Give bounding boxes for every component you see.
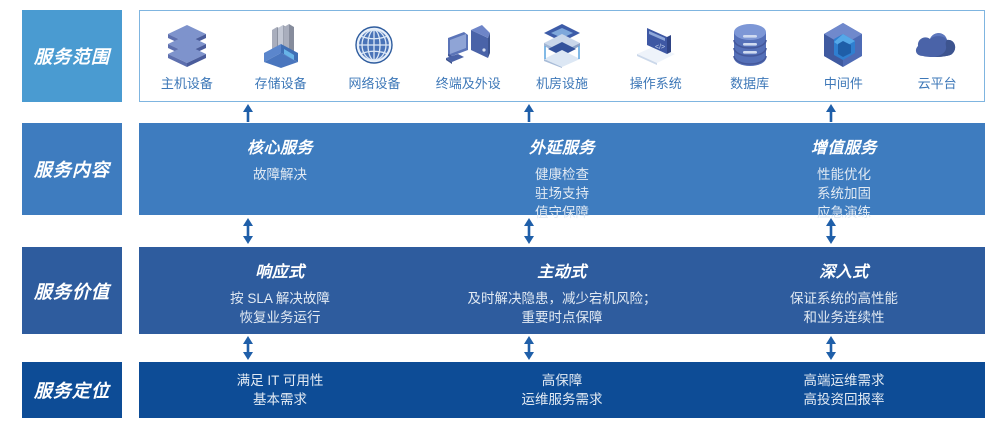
row-service-content: 服务内容 核心服务 故障解决 外延服务 健康检查 驻场支持 值守保障 增值服务 … — [0, 123, 1000, 215]
row-label-service-content: 服务内容 — [22, 123, 122, 215]
service-value-panel: 响应式 按 SLA 解决故障 恢复业务运行 主动式 及时解决隐患，减少宕机风险；… — [139, 247, 985, 334]
scope-item-label: 操作系统 — [630, 73, 682, 92]
row-label-service-scope: 服务范围 — [22, 10, 122, 102]
column-title: 深入式 — [819, 258, 869, 282]
storage-array-icon — [260, 22, 302, 68]
value-column-indepth[interactable]: 深入式 保证系统的高性能 和业务连续性 — [703, 247, 985, 334]
scope-item-label: 终端及外设 — [436, 73, 501, 92]
database-icon — [731, 22, 769, 68]
scope-item-label: 主机设备 — [161, 73, 213, 92]
scope-item-label: 存储设备 — [255, 73, 307, 92]
scope-item-label: 网络设备 — [348, 73, 400, 92]
laptop-os-icon: </> — [633, 22, 679, 68]
column-line: 重要时点保障 — [522, 308, 603, 327]
content-column-extended[interactable]: 外延服务 健康检查 驻场支持 值守保障 — [421, 123, 703, 215]
arrow-row1-row2-left — [241, 104, 255, 122]
server-stack-icon — [166, 22, 208, 68]
scope-item-middleware[interactable]: 中间件 — [796, 11, 890, 101]
column-title: 主动式 — [537, 258, 587, 282]
service-framework-diagram: 服务范围 — [0, 0, 1000, 424]
column-line: 按 SLA 解决故障 — [230, 289, 330, 308]
column-line: 保证系统的高性能 — [790, 289, 898, 308]
row-label-text: 服务价值 — [34, 278, 110, 304]
column-line: 性能优化 — [817, 165, 871, 184]
service-content-panel: 核心服务 故障解决 外延服务 健康检查 驻场支持 值守保障 增值服务 性能优化 … — [139, 123, 985, 215]
column-line: 恢复业务运行 — [240, 308, 321, 327]
arrow-row2-row3-center — [522, 218, 536, 244]
positioning-column-premium[interactable]: 高端运维需求 高投资回报率 — [703, 362, 985, 418]
column-line: 健康检查 — [535, 165, 589, 184]
column-line: 运维服务需求 — [522, 390, 603, 409]
scope-item-label: 云平台 — [918, 73, 957, 92]
scope-item-label: 数据库 — [730, 73, 769, 92]
cube-middleware-icon — [821, 22, 865, 68]
column-line: 值守保障 — [535, 203, 589, 222]
column-title: 核心服务 — [247, 134, 313, 158]
scope-items-panel: 主机设备 — [139, 10, 985, 102]
positioning-column-assurance[interactable]: 高保障 运维服务需求 — [421, 362, 703, 418]
arrow-row2-row3-left — [241, 218, 255, 244]
column-title: 响应式 — [255, 258, 305, 282]
row-service-scope: 服务范围 — [0, 10, 1000, 102]
value-column-reactive[interactable]: 响应式 按 SLA 解决故障 恢复业务运行 — [139, 247, 421, 334]
cloud-icon — [913, 22, 961, 68]
row-label-service-value: 服务价值 — [22, 247, 122, 334]
scope-item-datacenter[interactable]: 机房设施 — [515, 11, 609, 101]
content-column-core[interactable]: 核心服务 故障解决 — [139, 123, 421, 215]
globe-network-icon — [354, 22, 394, 68]
value-column-proactive[interactable]: 主动式 及时解决隐患，减少宕机风险； 重要时点保障 — [421, 247, 703, 334]
content-column-valueadd[interactable]: 增值服务 性能优化 系统加固 应急演练 — [703, 123, 985, 215]
scope-item-os[interactable]: </> 操作系统 — [609, 11, 703, 101]
row-label-text: 服务定位 — [34, 377, 110, 403]
column-line: 高投资回报率 — [804, 390, 885, 409]
scope-item-cloud[interactable]: 云平台 — [890, 11, 984, 101]
arrow-row2-row3-right — [824, 218, 838, 244]
row-service-value: 服务价值 响应式 按 SLA 解决故障 恢复业务运行 主动式 及时解决隐患，减少… — [0, 247, 1000, 334]
column-line: 系统加固 — [817, 184, 871, 203]
row-service-positioning: 服务定位 满足 IT 可用性 基本需求 高保障 运维服务需求 高端运维需求 高投… — [0, 362, 1000, 418]
column-title: 增值服务 — [811, 134, 877, 158]
service-positioning-panel: 满足 IT 可用性 基本需求 高保障 运维服务需求 高端运维需求 高投资回报率 — [139, 362, 985, 418]
row-label-service-positioning: 服务定位 — [22, 362, 122, 418]
row-label-text: 服务内容 — [34, 156, 110, 182]
column-line: 驻场支持 — [535, 184, 589, 203]
column-line: 满足 IT 可用性 — [237, 371, 324, 390]
arrow-row3-row4-right — [824, 336, 838, 360]
arrow-row3-row4-left — [241, 336, 255, 360]
scope-item-terminal[interactable]: 终端及外设 — [421, 11, 515, 101]
scope-item-label: 中间件 — [824, 73, 863, 92]
arrow-row1-row2-center — [522, 104, 536, 122]
data-center-icon — [539, 22, 585, 68]
arrow-row1-row2-right — [824, 104, 838, 122]
column-line: 及时解决隐患，减少宕机风险； — [468, 289, 657, 308]
scope-item-storage[interactable]: 存储设备 — [234, 11, 328, 101]
column-line: 故障解决 — [253, 165, 307, 184]
scope-item-host[interactable]: 主机设备 — [140, 11, 234, 101]
arrow-row3-row4-center — [522, 336, 536, 360]
scope-item-database[interactable]: 数据库 — [703, 11, 797, 101]
desktop-pc-icon — [444, 22, 492, 68]
row-label-text: 服务范围 — [34, 43, 110, 69]
column-line: 基本需求 — [253, 390, 307, 409]
scope-item-network[interactable]: 网络设备 — [328, 11, 422, 101]
column-line: 和业务连续性 — [804, 308, 885, 327]
positioning-column-basic[interactable]: 满足 IT 可用性 基本需求 — [139, 362, 421, 418]
svg-text:</>: </> — [655, 44, 665, 51]
column-line: 高保障 — [542, 371, 583, 390]
column-title: 外延服务 — [529, 134, 595, 158]
column-line: 高端运维需求 — [804, 371, 885, 390]
scope-item-label: 机房设施 — [536, 73, 588, 92]
